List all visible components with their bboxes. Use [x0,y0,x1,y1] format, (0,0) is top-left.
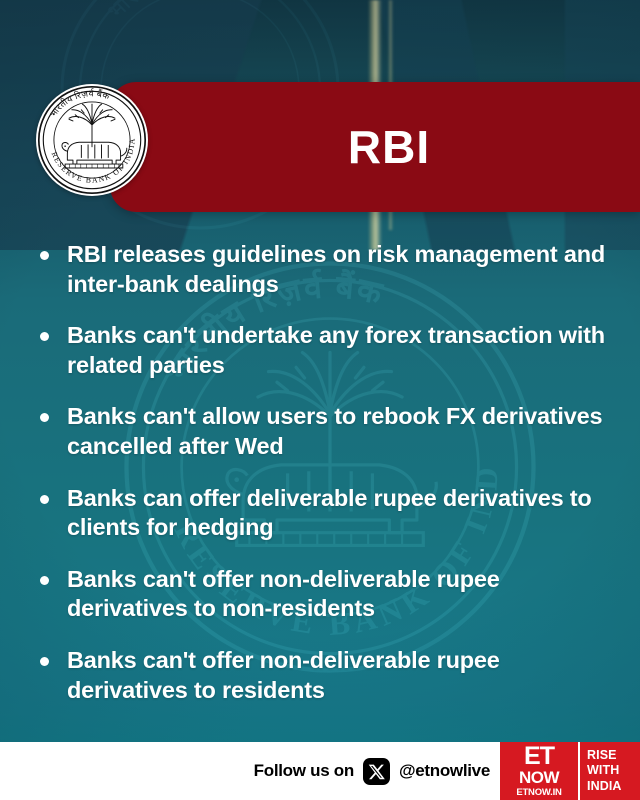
social-handle[interactable]: @etnowlive [399,761,490,781]
list-item: Banks can't allow users to rebook FX der… [34,402,622,461]
list-item-text: Banks can't offer non-deliverable rupee … [67,565,622,624]
tagline-line-1: RISE [587,748,617,763]
list-item: Banks can't offer non-deliverable rupee … [34,565,622,624]
list-item-text: RBI releases guidelines on risk manageme… [67,240,622,299]
list-item: RBI releases guidelines on risk manageme… [34,240,622,299]
list-item-text: Banks can't undertake any forex transact… [67,321,622,380]
list-item: Banks can't undertake any forex transact… [34,321,622,380]
etnow-site-text: ETNOW.IN [516,788,561,798]
bullet-dot-icon [40,332,49,341]
bullet-list: RBI releases guidelines on risk manageme… [34,240,622,727]
follow-us-group: Follow us on @etnowlive [254,758,490,785]
etnow-tagline: RISE WITH INDIA [578,742,640,800]
bullet-dot-icon [40,413,49,422]
list-item-text: Banks can offer deliverable rupee deriva… [67,484,622,543]
etnow-et-text: ET [524,745,554,768]
etnow-logo[interactable]: ET NOW ETNOW.IN RISE WITH INDIA [500,742,640,800]
header-banner: RBI [110,82,640,212]
list-item-text: Banks can't allow users to rebook FX der… [67,402,622,461]
etnow-logo-mark: ET NOW ETNOW.IN [500,742,578,800]
x-twitter-icon[interactable] [363,758,390,785]
tagline-line-3: INDIA [587,779,622,794]
list-item: Banks can't offer non-deliverable rupee … [34,646,622,705]
bullet-dot-icon [40,251,49,260]
list-item: Banks can offer deliverable rupee deriva… [34,484,622,543]
tagline-line-2: WITH [587,763,619,778]
rbi-seal-logo-icon: भारतीय रिज़र्व बैंक RESERVE BANK OF INDI… [36,84,148,196]
list-item-text: Banks can't offer non-deliverable rupee … [67,646,622,705]
bullet-dot-icon [40,495,49,504]
footer-bar: Follow us on @etnowlive ET NOW ETNOW.IN … [0,742,640,800]
bullet-dot-icon [40,576,49,585]
bullet-dot-icon [40,657,49,666]
etnow-now-text: NOW [519,769,559,786]
rbi-news-card: भारतीय रिज़र्व बैंक भारतीय रिज़र्व बैंक … [0,0,640,800]
page-title: RBI [110,82,640,212]
follow-us-label: Follow us on [254,761,354,781]
